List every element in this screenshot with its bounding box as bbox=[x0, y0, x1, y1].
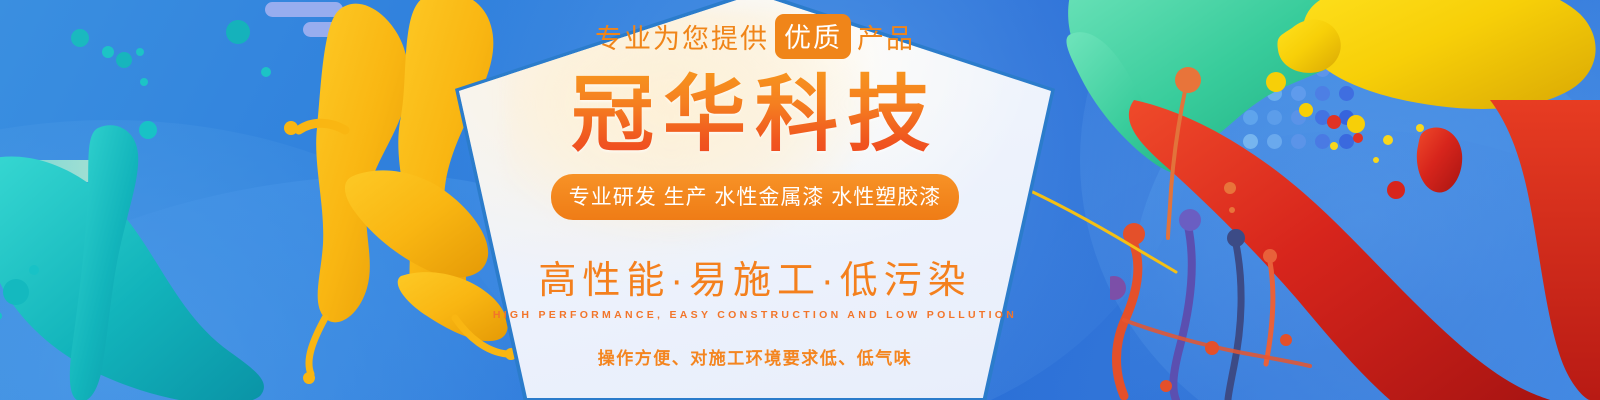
mint-cloud-decoration bbox=[0, 160, 124, 230]
grid-dot bbox=[1267, 110, 1282, 125]
content-panel: 专业为您提供 优质 产品 冠华科技 专业研发 生产 水性金属漆 水性塑胶漆 高性… bbox=[455, 0, 1055, 400]
grid-dot bbox=[1339, 86, 1354, 101]
footnote: 操作方便、对施工环境要求低、低气味 bbox=[598, 344, 913, 369]
slogan-english: HIGH PERFORMANCE, EASY CONSTRUCTION AND … bbox=[493, 309, 1017, 321]
grid-dot bbox=[1243, 62, 1258, 77]
background-wave-right bbox=[1130, 20, 1600, 400]
grid-dot bbox=[1315, 62, 1330, 77]
tagline-suffix: 产品 bbox=[857, 17, 915, 56]
grid-dot bbox=[1291, 62, 1306, 77]
lavender-cloud-decoration bbox=[265, 2, 375, 38]
grid-dot bbox=[1339, 110, 1354, 125]
grid-dot bbox=[1267, 134, 1282, 149]
brand-title: 冠华科技 bbox=[571, 71, 939, 158]
grid-dot bbox=[1315, 86, 1330, 101]
grid-dot bbox=[1291, 134, 1306, 149]
services-pill: 专业研发 生产 水性金属漆 水性塑胶漆 bbox=[551, 174, 960, 220]
dot-grid-decoration bbox=[1243, 62, 1358, 153]
promo-banner: 专业为您提供 优质 产品 冠华科技 专业研发 生产 水性金属漆 水性塑胶漆 高性… bbox=[0, 0, 1600, 400]
grid-dot bbox=[1291, 86, 1306, 101]
grid-dot bbox=[1267, 86, 1282, 101]
grid-dot bbox=[1339, 134, 1354, 149]
grid-dot bbox=[1243, 86, 1258, 101]
grid-dot bbox=[1291, 110, 1306, 125]
slogan: 高性能·易施工·低污染 bbox=[538, 249, 971, 304]
grid-dot bbox=[1267, 62, 1282, 77]
tagline: 专业为您提供 优质 产品 bbox=[595, 14, 915, 59]
grid-dot bbox=[1243, 110, 1258, 125]
quality-badge: 优质 bbox=[775, 14, 851, 59]
grid-dot bbox=[1315, 134, 1330, 149]
tagline-prefix: 专业为您提供 bbox=[595, 17, 769, 56]
grid-dot bbox=[1243, 134, 1258, 149]
grid-dot bbox=[1315, 110, 1330, 125]
grid-dot bbox=[1339, 62, 1354, 77]
